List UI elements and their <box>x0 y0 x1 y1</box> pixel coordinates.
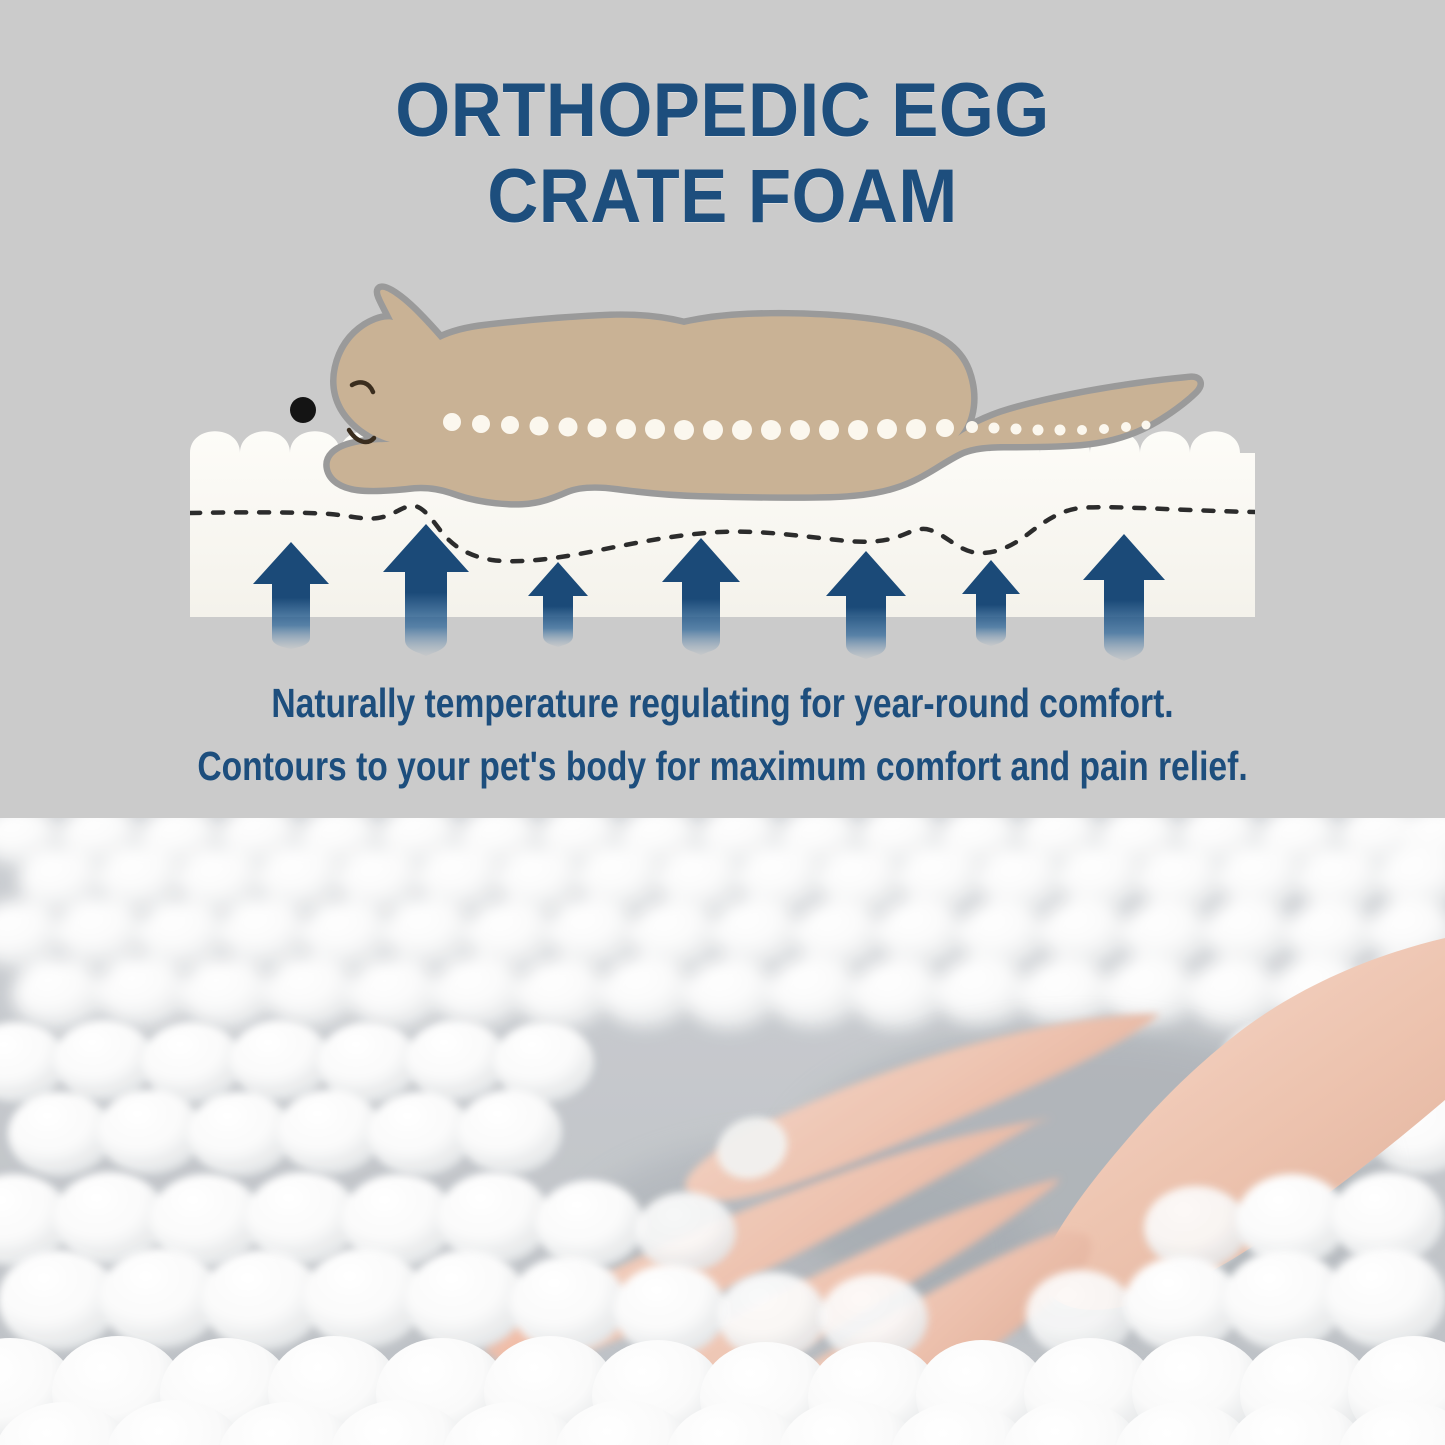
foam-texture-photo <box>0 818 1445 1445</box>
hand-pressing-foam-illustration <box>0 818 1445 1445</box>
caption-line-1: Naturally temperature regulating for yea… <box>130 672 1315 735</box>
product-feature-infographic: ORTHOPEDIC EGG CRATE FOAM <box>0 0 1445 1445</box>
dog-nose-icon <box>290 397 316 423</box>
illustration-panel: ORTHOPEDIC EGG CRATE FOAM <box>0 0 1445 818</box>
feature-captions: Naturally temperature regulating for yea… <box>0 672 1445 798</box>
caption-line-2: Contours to your pet's body for maximum … <box>130 735 1315 798</box>
